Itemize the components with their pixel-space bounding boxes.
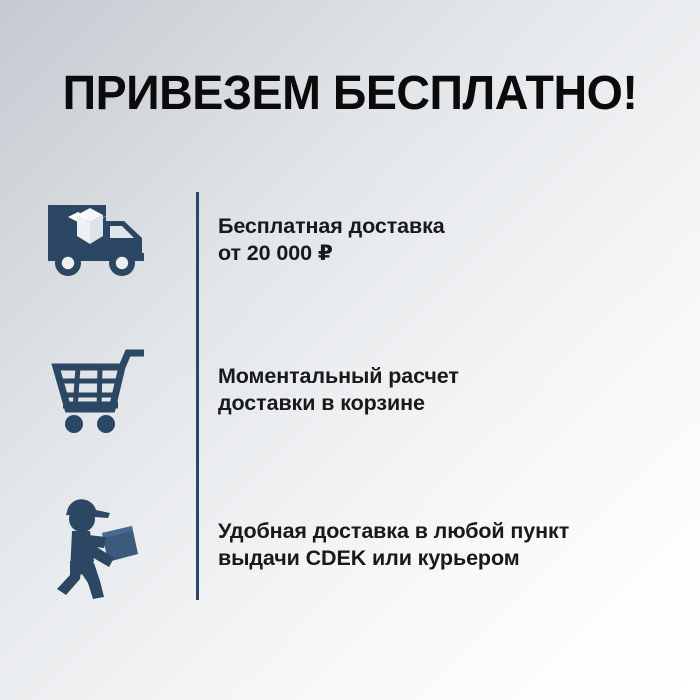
feature-line-2: выдачи CDEK или курьером bbox=[218, 545, 700, 572]
feature-line-1: Бесплатная доставка bbox=[218, 213, 700, 240]
feature-text-instant-calculation: Моментальный расчет доставки в корзине bbox=[196, 363, 700, 417]
feature-text-free-delivery: Бесплатная доставка от 20 000 ₽ bbox=[196, 213, 700, 267]
feature-row-free-delivery: Бесплатная доставка от 20 000 ₽ bbox=[0, 186, 700, 294]
feature-line-2: доставки в корзине bbox=[218, 390, 700, 417]
feature-row-instant-calculation: Моментальный расчет доставки в корзине bbox=[0, 336, 700, 444]
feature-text-pickup-courier: Удобная доставка в любой пункт выдачи CD… bbox=[196, 518, 700, 572]
feature-line-2: от 20 000 ₽ bbox=[218, 240, 700, 267]
shopping-cart-icon bbox=[0, 345, 196, 435]
delivery-truck-icon bbox=[0, 197, 196, 283]
feature-line-1: Моментальный расчет bbox=[218, 363, 700, 390]
feature-list: Бесплатная доставка от 20 000 ₽ bbox=[0, 0, 700, 700]
delivery-promo-banner: ПРИВЕЗЕМ БЕСПЛАТНО! bbox=[0, 0, 700, 700]
feature-row-pickup-courier: Удобная доставка в любой пункт выдачи CD… bbox=[0, 486, 700, 604]
feature-line-1: Удобная доставка в любой пункт bbox=[218, 518, 700, 545]
courier-walking-icon bbox=[0, 491, 196, 599]
